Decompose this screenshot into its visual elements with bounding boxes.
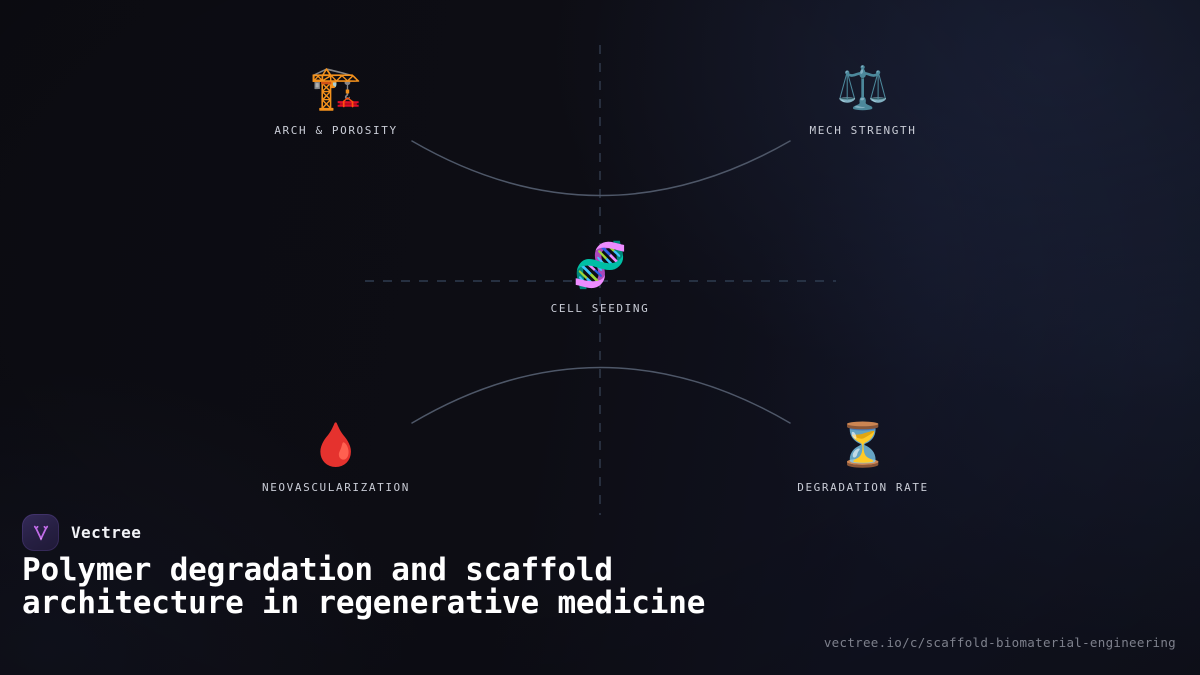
construction-crane-icon: 🏗️	[221, 62, 451, 114]
node-mech-strength[interactable]: ⚖️ MECH STRENGTH	[748, 62, 978, 137]
node-label: CELL SEEDING	[485, 302, 715, 315]
node-label: MECH STRENGTH	[748, 124, 978, 137]
hourglass-icon: ⏳	[748, 419, 978, 471]
edge-neo-to-degradation	[412, 368, 790, 424]
vectree-tree-mark-icon	[22, 514, 59, 551]
dna-icon: 🧬	[485, 240, 715, 292]
footer: Vectree Polymer degradation and scaffold…	[0, 505, 1200, 675]
node-degradation-rate[interactable]: ⏳ DEGRADATION RATE	[748, 419, 978, 494]
node-arch-porosity[interactable]: 🏗️ ARCH & POROSITY	[221, 62, 451, 137]
node-cell-seeding[interactable]: 🧬 CELL SEEDING	[485, 240, 715, 315]
brand[interactable]: Vectree	[22, 514, 141, 551]
node-label: NEOVASCULARIZATION	[221, 481, 451, 494]
node-label: ARCH & POROSITY	[221, 124, 451, 137]
node-label: DEGRADATION RATE	[748, 481, 978, 494]
source-url: vectree.io/c/scaffold-biomaterial-engine…	[824, 635, 1176, 650]
balance-scale-icon: ⚖️	[748, 62, 978, 114]
node-neovascularization[interactable]: 🩸 NEOVASCULARIZATION	[221, 419, 451, 494]
brand-name: Vectree	[71, 523, 141, 542]
edge-arch-to-mech	[412, 141, 790, 196]
page-title: Polymer degradation and scaffold archite…	[22, 554, 762, 620]
vectree-glyph	[30, 522, 52, 544]
blood-drop-icon: 🩸	[221, 419, 451, 471]
